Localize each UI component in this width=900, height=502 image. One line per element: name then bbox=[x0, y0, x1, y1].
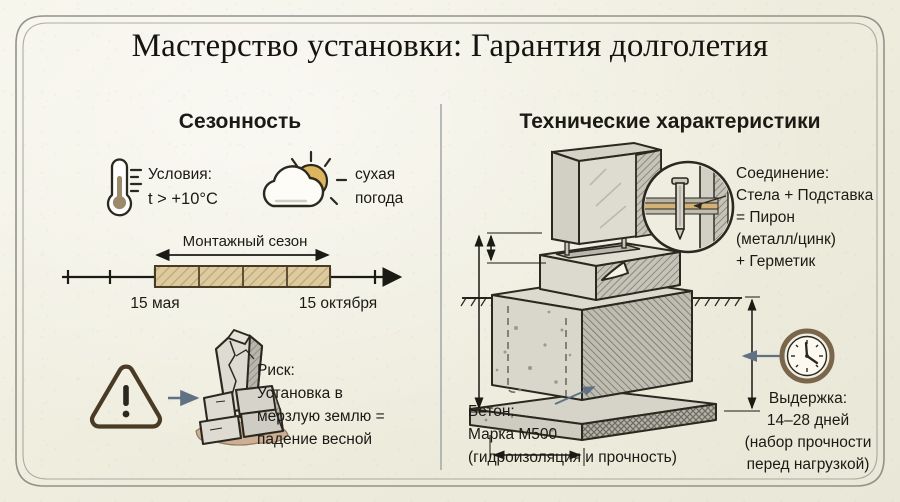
infographic-canvas: Мастерство установки: Гарантия долголети… bbox=[0, 0, 900, 502]
joint-label-line5: + Герметик bbox=[736, 252, 815, 272]
concrete-label-line3: (гидроизоляция и прочность) bbox=[468, 448, 677, 468]
concrete-label-line1: Бетон: bbox=[468, 402, 515, 422]
joint-label-line4: (металл/цинк) bbox=[736, 230, 836, 250]
curing-label-line2: 14–28 дней bbox=[732, 411, 884, 431]
curing-label-line1: Выдержка: bbox=[732, 389, 884, 409]
joint-label-line3: = Пирон bbox=[736, 208, 795, 228]
concrete-label-line2: Марка М500 bbox=[468, 425, 557, 445]
curing-label-line4: перед нагрузкой) bbox=[726, 455, 890, 475]
joint-label-line2: Стела + Подставка bbox=[736, 186, 873, 206]
curing-label-line3: (набор прочности bbox=[726, 433, 890, 453]
clock-icon bbox=[782, 331, 832, 381]
joint-label-line1: Соединение: bbox=[736, 164, 829, 184]
